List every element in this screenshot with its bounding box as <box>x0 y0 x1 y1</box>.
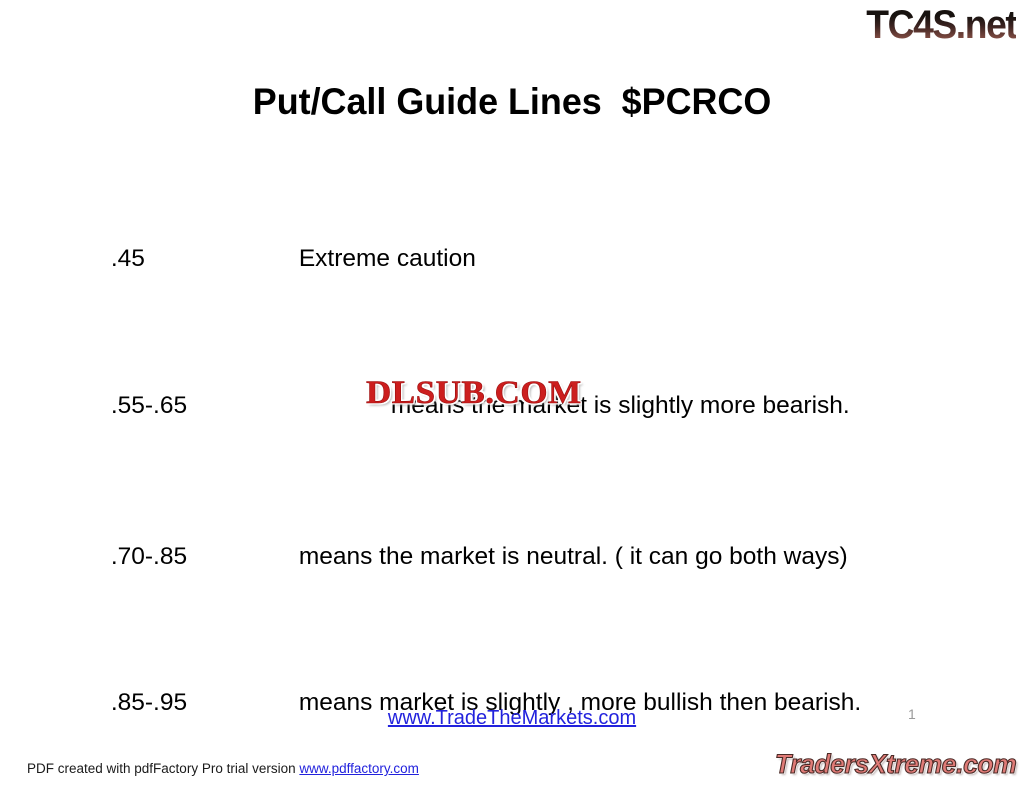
pdffactory-link[interactable]: www.pdffactory.com <box>299 761 419 776</box>
guideline-level: .45 <box>111 240 299 277</box>
list-item: .70-.85means the market is neutral. ( it… <box>70 501 970 612</box>
list-item: .85-.95means market is slightly , more b… <box>70 647 970 758</box>
footer-link-wrapper: www.TradeTheMarkets.com <box>0 705 1024 731</box>
guideline-list: .45Extreme caution .55-.65means the mark… <box>70 203 970 791</box>
guideline-description: Extreme caution <box>299 245 476 272</box>
page-title: Put/Call Guide Lines $PCRCO <box>15 80 1008 124</box>
pdffactory-notice-text: PDF created with pdfFactory Pro trial ve… <box>27 761 299 776</box>
tc4s-brand-logo: TC4S.net <box>866 2 1016 48</box>
list-item: .45Extreme caution <box>70 203 970 314</box>
guideline-level: .70-.85 <box>111 538 299 575</box>
guideline-level: .55-.65 <box>111 387 391 424</box>
pdffactory-notice: PDF created with pdfFactory Pro trial ve… <box>27 760 419 778</box>
tradethemarkets-link[interactable]: www.TradeTheMarkets.com <box>388 707 636 729</box>
guideline-description: means the market is neutral. ( it can go… <box>299 543 848 570</box>
tradersxtreme-brand-logo: TradersXtreme.com <box>775 748 1016 781</box>
dlsub-watermark: DLSUB.COM <box>366 374 582 412</box>
page-number: 1 <box>908 705 916 723</box>
slide-canvas: TC4S.net Put/Call Guide Lines $PCRCO .45… <box>0 0 1024 791</box>
